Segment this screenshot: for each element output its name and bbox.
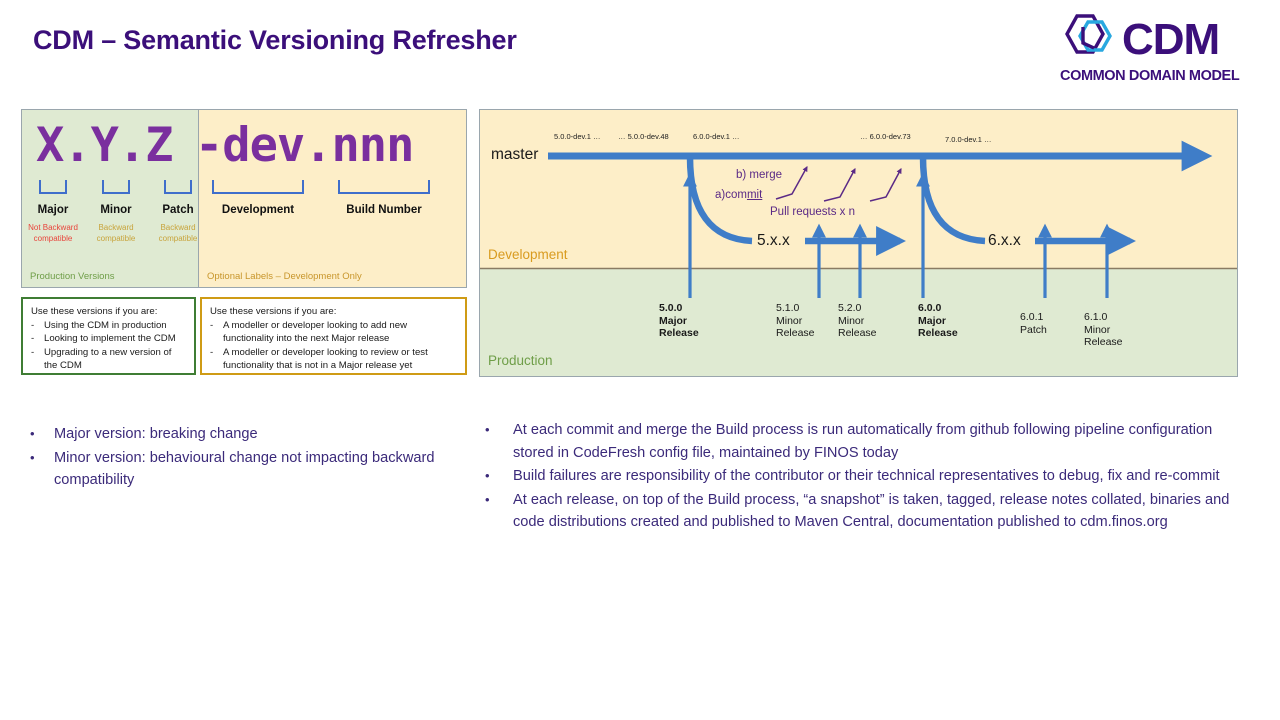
release-label-500: 5.0.0 Major Release	[659, 302, 699, 340]
release-version: 6.1.0	[1084, 311, 1123, 324]
release-version: 5.2.0	[838, 302, 877, 315]
hexagon-logo-icon	[1060, 13, 1114, 68]
segment-label-build-number: Build Number	[338, 204, 430, 216]
segment-note-minor: Backward compatible	[83, 223, 149, 244]
patch-brace	[164, 180, 192, 194]
release-label-610: 6.1.0 Minor Release	[1084, 311, 1123, 349]
dash-marker: -	[31, 319, 38, 332]
right-bullet-list: • At each commit and merge the Build pro…	[485, 419, 1245, 535]
release-label-600: 6.0.0 Major Release	[918, 302, 958, 340]
callout-lead: Use these versions if you are:	[31, 305, 187, 318]
dev-tag-1: … 5.0.0-dev.48	[618, 132, 669, 141]
pull-requests-annotation: Pull requests x n	[770, 206, 855, 218]
release-version: 6.0.0	[918, 302, 958, 315]
release-label-510: 5.1.0 Minor Release	[776, 302, 815, 340]
development-zone-label: Development	[488, 247, 568, 262]
release-kind: Major	[918, 315, 958, 328]
branch-label-5xx: 5.x.x	[757, 232, 790, 250]
release-label-520: 5.2.0 Minor Release	[838, 302, 877, 340]
release-version: 6.0.1	[1020, 311, 1047, 324]
dev-tag-4: 7.0.0-dev.1 …	[945, 135, 992, 144]
list-item: -Using the CDM in production	[31, 319, 187, 332]
release-suffix: Release	[838, 327, 877, 340]
release-suffix: Release	[659, 327, 699, 340]
branching-strategy-diagram: master 5.0.0-dev.1 … … 5.0.0-dev.48 6.0.…	[479, 109, 1238, 377]
bullet-text: Build failures are responsibility of the…	[513, 465, 1220, 488]
bullet-marker: •	[30, 447, 54, 492]
callout-item-text: Looking to implement the CDM	[44, 332, 176, 345]
bullet-text: Major version: breaking change	[54, 423, 258, 446]
segment-note-major: Not Backward compatible	[20, 223, 86, 244]
production-zone-label: Production	[488, 353, 553, 368]
bullet-text: At each commit and merge the Build proce…	[513, 419, 1245, 464]
master-branch-label: master	[491, 146, 538, 164]
list-item: -A modeller or developer looking to add …	[210, 319, 458, 345]
dash-marker: -	[210, 319, 217, 345]
release-suffix: Release	[1084, 336, 1123, 349]
production-version-pattern: X.Y.Z	[36, 118, 172, 173]
release-version: 5.1.0	[776, 302, 815, 315]
list-item: • At each release, on top of the Build p…	[485, 489, 1245, 534]
segment-label-minor: Minor	[83, 204, 149, 216]
list-item: -A modeller or developer looking to revi…	[210, 346, 458, 372]
build-number-brace	[338, 180, 430, 194]
list-item: • Build failures are responsibility of t…	[485, 465, 1245, 488]
bullet-text: Minor version: behavioural change not im…	[54, 447, 450, 492]
list-item: • At each commit and merge the Build pro…	[485, 419, 1245, 464]
release-version: 5.0.0	[659, 302, 699, 315]
callout-item-text: A modeller or developer looking to revie…	[223, 346, 458, 372]
segment-label-development: Development	[212, 204, 304, 216]
production-callout: Use these versions if you are: -Using th…	[21, 297, 196, 375]
bullet-text: At each release, on top of the Build pro…	[513, 489, 1245, 534]
release-kind: Patch	[1020, 324, 1047, 337]
release-kind: Minor	[776, 315, 815, 328]
list-item: • Major version: breaking change	[30, 423, 450, 446]
development-brace	[212, 180, 304, 194]
production-version-panel: X.Y.Z Major Minor Patch Not Backward com…	[22, 110, 198, 287]
callout-item-text: A modeller or developer looking to add n…	[223, 319, 458, 345]
dev-tag-3: … 6.0.0-dev.73	[860, 132, 911, 141]
release-suffix: Release	[776, 327, 815, 340]
logo-wordmark: CDM	[1122, 18, 1219, 62]
production-panel-footer: Production Versions	[30, 271, 115, 282]
list-item: • Minor version: behavioural change not …	[30, 447, 450, 492]
branch-label-6xx: 6.x.x	[988, 232, 1021, 250]
bullet-marker: •	[485, 489, 513, 534]
cdm-logo: CDM COMMON DOMAIN MODEL	[1060, 14, 1240, 92]
bullet-marker: •	[485, 465, 513, 488]
major-brace	[39, 180, 67, 194]
page-title: CDM – Semantic Versioning Refresher	[33, 25, 517, 56]
callout-item-text: Using the CDM in production	[44, 319, 167, 332]
bullet-marker: •	[30, 423, 54, 446]
release-kind: Minor	[838, 315, 877, 328]
dev-tag-0: 5.0.0-dev.1 …	[554, 132, 601, 141]
minor-brace	[102, 180, 130, 194]
merge-annotation: b) merge	[736, 169, 782, 181]
dash-marker: -	[31, 332, 38, 345]
release-label-601: 6.0.1 Patch	[1020, 311, 1047, 336]
bullet-marker: •	[485, 419, 513, 464]
callout-lead: Use these versions if you are:	[210, 305, 458, 318]
development-version-pattern: -dev.nnn	[195, 118, 413, 173]
left-bullet-list: • Major version: breaking change • Minor…	[30, 423, 450, 493]
development-callout: Use these versions if you are: -A modell…	[200, 297, 467, 375]
list-item: -Looking to implement the CDM	[31, 332, 187, 345]
logo-subtitle: COMMON DOMAIN MODEL	[1060, 68, 1240, 84]
release-kind: Minor	[1084, 324, 1123, 337]
release-suffix: Release	[918, 327, 958, 340]
release-kind: Major	[659, 315, 699, 328]
dash-marker: -	[31, 346, 38, 372]
development-version-panel: -dev.nnn Development Build Number Option…	[199, 110, 466, 287]
development-panel-footer: Optional Labels – Development Only	[207, 271, 362, 282]
dash-marker: -	[210, 346, 217, 372]
dev-tag-2: 6.0.0-dev.1 …	[693, 132, 740, 141]
list-item: -Upgrading to a new version of the CDM	[31, 346, 187, 372]
version-anatomy-diagram: X.Y.Z Major Minor Patch Not Backward com…	[21, 109, 467, 288]
commit-annotation: a)commit	[715, 189, 762, 201]
segment-label-major: Major	[20, 204, 86, 216]
callout-item-text: Upgrading to a new version of the CDM	[44, 346, 187, 372]
